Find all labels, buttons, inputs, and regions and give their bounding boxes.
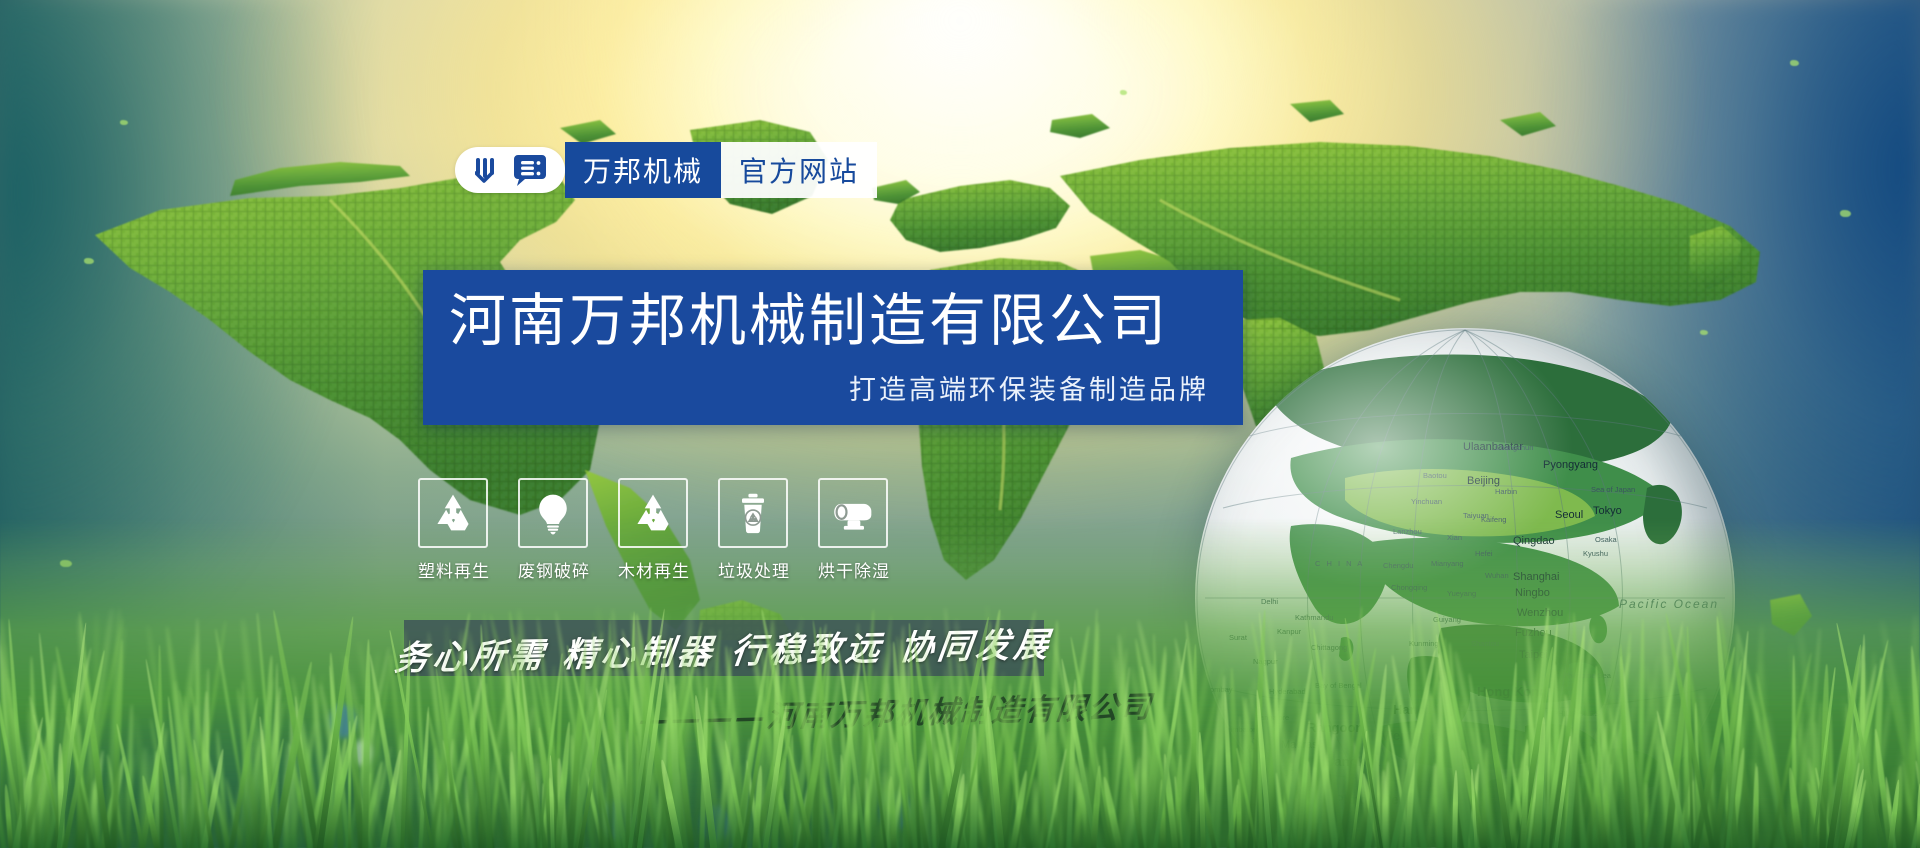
svg-text:Changchun: Changchun [1495, 443, 1533, 452]
service-item-waste-treatment[interactable]: 垃圾处理 [718, 478, 788, 582]
service-icon-box[interactable] [718, 478, 788, 548]
recycle-icon [631, 491, 675, 535]
dryer-blower-icon [831, 491, 875, 535]
service-item-plastic-recycle[interactable]: 塑料再生 [418, 478, 488, 582]
logo-w-mark [475, 156, 505, 184]
service-item-drying-dehumidify[interactable]: 烘干除湿 [818, 478, 888, 582]
service-label: 木材再生 [618, 557, 688, 582]
leaf-speck [1120, 90, 1127, 95]
company-tagline: 打造高端环保装备制造品牌 [449, 368, 1209, 407]
service-label: 废钢破碎 [518, 557, 588, 582]
recycle-icon [431, 491, 475, 535]
svg-text:Pyongyang: Pyongyang [1543, 459, 1598, 471]
service-item-steel-crush[interactable]: 废钢破碎 [518, 478, 588, 582]
hero-banner: Ulaanbaatar Beijing Baotou Yinchuan Lanz… [0, 0, 1920, 848]
lightbulb-icon [531, 491, 575, 535]
leaf-speck [1840, 210, 1851, 217]
svg-text:Beijing: Beijing [1467, 475, 1500, 487]
brand-name-text: 万邦机械 [583, 150, 703, 190]
svg-text:Yinchuan: Yinchuan [1411, 497, 1442, 506]
service-icon-row: 塑料再生 废钢破碎 木材再生 [418, 478, 888, 582]
company-name: 河南万邦机械制造有限公司 [449, 292, 1209, 352]
svg-text:Harbin: Harbin [1495, 487, 1517, 496]
svg-text:Baotou: Baotou [1423, 471, 1447, 480]
logo-b-mark [512, 154, 546, 186]
service-icon-box[interactable] [618, 478, 688, 548]
leaf-speck [1790, 60, 1799, 66]
logo-pill[interactable] [455, 147, 565, 193]
service-icon-box[interactable] [518, 478, 588, 548]
service-label: 烘干除湿 [818, 557, 888, 582]
site-logo-band[interactable]: 万邦机械 官方网站 [455, 142, 877, 198]
service-item-wood-recycle[interactable]: 木材再生 [618, 478, 688, 582]
trash-recycle-icon [731, 491, 775, 535]
service-label: 垃圾处理 [718, 557, 788, 582]
leaf-speck [84, 258, 94, 264]
service-icon-box[interactable] [418, 478, 488, 548]
site-tag-block[interactable]: 官方网站 [721, 142, 877, 198]
leaf-speck [120, 120, 128, 125]
service-label: 塑料再生 [418, 557, 488, 582]
company-title-panel: 河南万邦机械制造有限公司 打造高端环保装备制造品牌 [423, 270, 1243, 425]
brand-name-block[interactable]: 万邦机械 [565, 142, 721, 198]
grass-blades [0, 518, 1920, 848]
site-tag-text: 官方网站 [739, 150, 859, 190]
svg-text:Sea of Japan: Sea of Japan [1591, 485, 1635, 494]
svg-text:Tokyo: Tokyo [1593, 505, 1622, 517]
service-icon-box[interactable] [818, 478, 888, 548]
